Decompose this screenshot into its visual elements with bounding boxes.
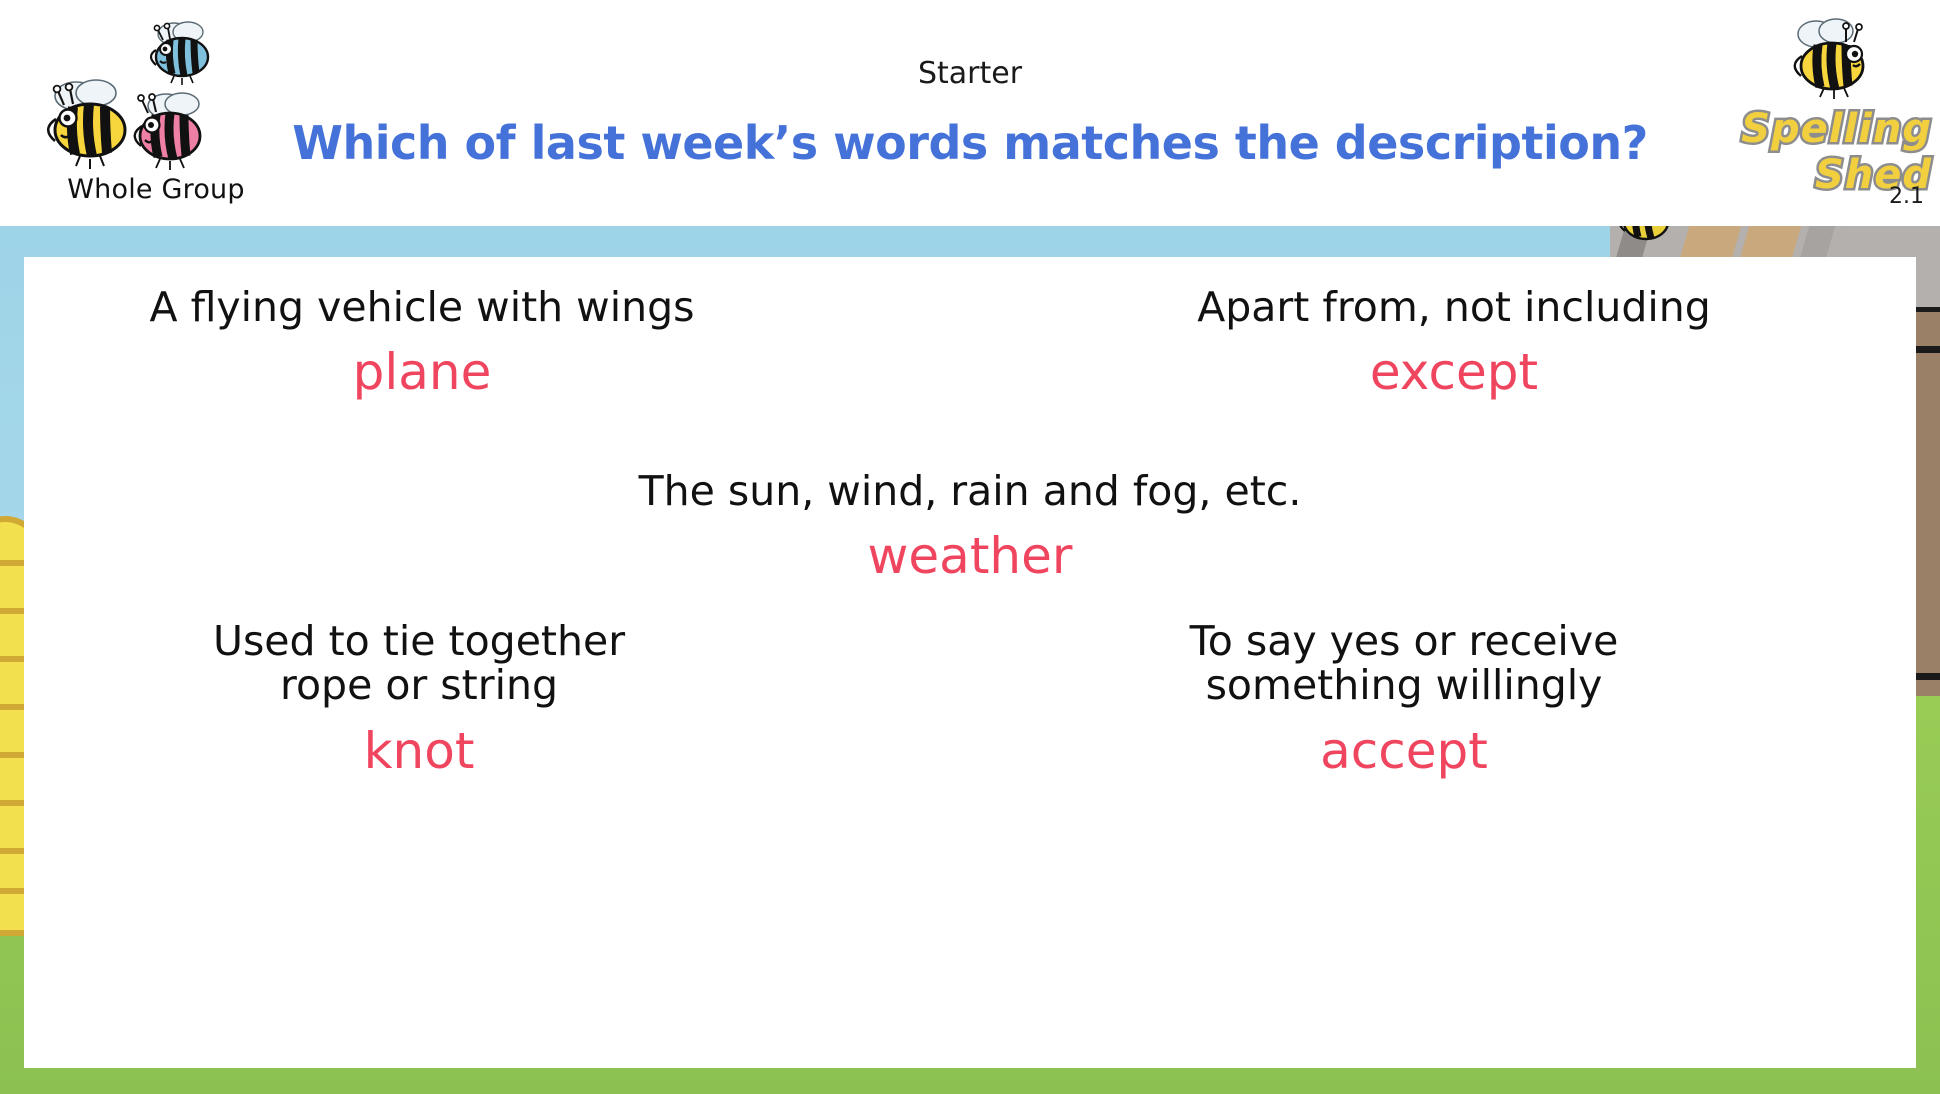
description-text: To say yes or receive something willingl… — [1054, 619, 1754, 708]
answer-word: accept — [1054, 722, 1754, 780]
question-item-except[interactable]: Apart from, not including except — [1104, 285, 1804, 401]
bee-roof-icon — [1612, 226, 1682, 252]
page-header: Whole Group Starter Which of last week’s… — [0, 0, 1940, 226]
answer-word: plane — [112, 343, 732, 401]
description-line: rope or string — [134, 663, 704, 707]
bee-logo-icon — [1782, 14, 1878, 106]
whole-group-label: Whole Group — [36, 174, 276, 205]
description-line: Used to tie together — [134, 619, 704, 663]
question-item-accept[interactable]: To say yes or receive something willingl… — [1054, 619, 1754, 780]
question-item-knot[interactable]: Used to tie together rope or string knot — [134, 619, 704, 780]
answer-word: except — [1104, 343, 1804, 401]
whole-group-badge: Whole Group — [36, 8, 276, 208]
description-text: Used to tie together rope or string — [134, 619, 704, 708]
answer-word: knot — [134, 722, 704, 780]
description-text: Apart from, not including — [1104, 285, 1804, 329]
description-line: To say yes or receive — [1054, 619, 1754, 663]
content-card: A flying vehicle with wings plane Apart … — [24, 257, 1916, 1068]
question-item-weather[interactable]: The sun, wind, rain and fog, etc. weathe… — [470, 469, 1470, 585]
description-line: something willingly — [1054, 663, 1754, 707]
answer-word: weather — [470, 527, 1470, 585]
question-item-plane[interactable]: A flying vehicle with wings plane — [112, 285, 732, 401]
description-text: The sun, wind, rain and fog, etc. — [470, 469, 1470, 513]
spelling-shed-logo[interactable]: Spelling Shed 2.1 — [1632, 14, 1932, 184]
description-text: A flying vehicle with wings — [112, 285, 732, 329]
version-label: 2.1 — [1624, 184, 1924, 209]
